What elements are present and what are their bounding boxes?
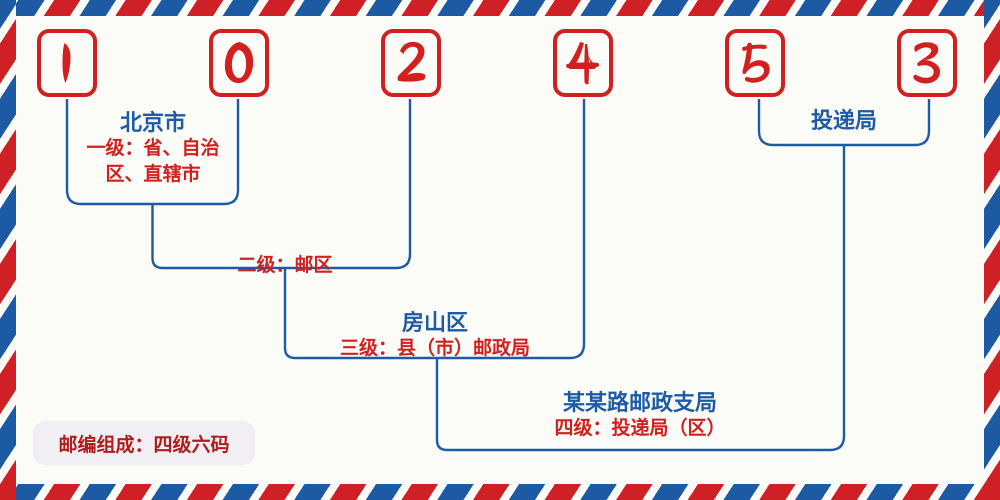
- legend-badge-text: 邮编组成：四级六码: [58, 430, 229, 457]
- digit-box-6[interactable]: [897, 29, 957, 97]
- level-1-title: 北京市: [78, 110, 228, 136]
- digit-box-5[interactable]: [725, 29, 785, 97]
- level-4-subtitle: 四级：投递局（区）: [515, 416, 765, 442]
- level-1-subtitle: 一级：省、自治区、直辖市: [78, 136, 228, 188]
- level-4-title: 某某路邮政支局: [515, 390, 765, 416]
- level-3-subtitle: 三级：县（市）邮政局: [310, 336, 560, 362]
- level-4-label: 某某路邮政支局 四级：投递局（区）: [515, 390, 765, 442]
- digit-glyph-5: [729, 33, 781, 93]
- digit-box-1[interactable]: [37, 29, 97, 97]
- level-3-label: 房山区 三级：县（市）邮政局: [310, 310, 560, 362]
- digit-glyph-2: [385, 33, 437, 93]
- delivery-office-title: 投递局: [769, 108, 919, 134]
- envelope-diagram: 北京市 一级：省、自治区、直辖市 二级：邮区 房山区 三级：县（市）邮政局 某某…: [0, 0, 1000, 500]
- legend-badge: 邮编组成：四级六码: [33, 421, 255, 465]
- delivery-office-label: 投递局: [769, 108, 919, 134]
- digit-glyph-3: [901, 33, 953, 93]
- digit-box-4[interactable]: [553, 29, 613, 97]
- level-1-label: 北京市 一级：省、自治区、直辖市: [78, 110, 228, 188]
- level-2-label: 二级：邮区: [185, 253, 385, 279]
- level-2-subtitle: 二级：邮区: [185, 253, 385, 279]
- level-3-title: 房山区: [310, 310, 560, 336]
- digit-glyph-4: [557, 33, 609, 93]
- digit-box-2[interactable]: [209, 29, 269, 97]
- digit-glyph-0: [213, 33, 265, 93]
- digit-box-3[interactable]: [381, 29, 441, 97]
- digit-glyph-1: [41, 33, 93, 93]
